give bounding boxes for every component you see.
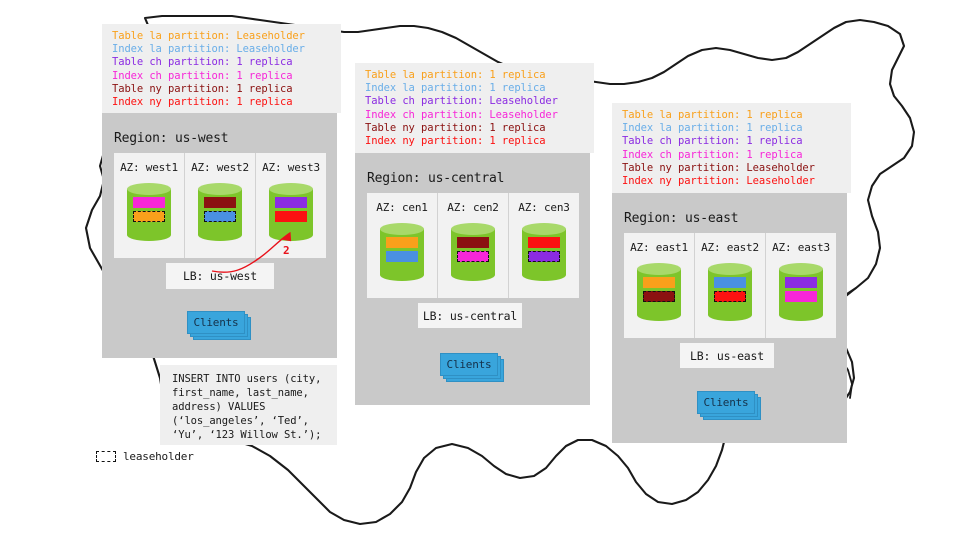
- info-line: Table ny partition: 1 replica: [365, 122, 586, 135]
- cylinder-top: [779, 263, 823, 275]
- clients-label: Clients: [447, 358, 492, 371]
- az-strip-us-central: AZ: cen1 AZ: cen2: [367, 193, 579, 298]
- replica-band: [714, 277, 746, 288]
- legend: leaseholder: [96, 450, 194, 463]
- cylinder-top: [637, 263, 681, 275]
- cylinder-top: [522, 223, 566, 235]
- az-label-west1: AZ: west1: [120, 161, 178, 174]
- replica-band: [643, 277, 675, 288]
- database-cylinder-cen3[interactable]: [522, 223, 566, 281]
- replica-band: [785, 291, 817, 302]
- replica-band: [386, 237, 418, 248]
- leaseholder-band: [714, 291, 746, 302]
- leaseholder-swatch-icon: [96, 451, 116, 462]
- cylinder-top: [380, 223, 424, 235]
- database-cylinder-west1[interactable]: [127, 183, 171, 241]
- database-cylinder-cen2[interactable]: [451, 223, 495, 281]
- info-line: Index ny partition: Leaseholder: [622, 175, 843, 188]
- info-line: Index la partition: 1 replica: [622, 122, 843, 135]
- info-line: Index ch partition: 1 replica: [112, 70, 333, 83]
- sql-statement-box: INSERT INTO users (city, first_name, las…: [160, 365, 337, 445]
- az-label-cen2: AZ: cen2: [447, 201, 498, 214]
- region-title-us-east: Region: us-east: [624, 211, 738, 226]
- az-label-west3: AZ: west3: [262, 161, 320, 174]
- clients-label: Clients: [704, 396, 749, 409]
- clients-stack-front[interactable]: Clients: [697, 391, 755, 414]
- clients-stack-front[interactable]: Clients: [187, 311, 245, 334]
- annotation-arrow: [210, 225, 310, 280]
- info-line: Table ch partition: 1 replica: [622, 135, 843, 148]
- info-box-us-west: Table la partition: Leaseholder Index la…: [102, 24, 341, 113]
- az-label-cen1: AZ: cen1: [376, 201, 427, 214]
- az-cell-cen1[interactable]: AZ: cen1: [367, 193, 438, 298]
- az-cell-west1[interactable]: AZ: west1: [114, 153, 185, 258]
- replica-band: [386, 251, 418, 262]
- region-panel-us-east: Region: us-east AZ: east1 AZ: east2: [612, 193, 847, 443]
- az-cell-cen3[interactable]: AZ: cen3: [509, 193, 579, 298]
- clients-stack-front[interactable]: Clients: [440, 353, 498, 376]
- az-label-east3: AZ: east3: [772, 241, 830, 254]
- info-box-us-central: Table la partition: 1 replica Index la p…: [355, 63, 594, 153]
- clients-label: Clients: [194, 316, 239, 329]
- info-line: Index ch partition: 1 replica: [622, 149, 843, 162]
- info-line: Index ch partition: Leaseholder: [365, 109, 586, 122]
- info-line: Index ny partition: 1 replica: [365, 135, 586, 148]
- az-cell-east3[interactable]: AZ: east3: [766, 233, 836, 338]
- replica-band: [275, 211, 307, 222]
- az-label-west2: AZ: west2: [191, 161, 249, 174]
- legend-label: leaseholder: [123, 450, 194, 463]
- info-line: Table ch partition: Leaseholder: [365, 95, 586, 108]
- region-title-us-west: Region: us-west: [114, 131, 228, 146]
- clients-button-us-east[interactable]: Clients: [697, 391, 759, 417]
- leaseholder-band: [643, 291, 675, 302]
- info-line: Index ny partition: 1 replica: [112, 96, 333, 109]
- region-panel-us-central: Region: us-central AZ: cen1 AZ: cen2: [355, 153, 590, 405]
- sql-line: INSERT INTO users (city,: [172, 372, 327, 386]
- info-box-us-east: Table la partition: 1 replica Index la p…: [612, 103, 851, 193]
- clients-button-us-west[interactable]: Clients: [187, 311, 249, 337]
- diagram-canvas: Region: us-west AZ: west1 AZ: west2: [0, 0, 960, 540]
- info-line: Index la partition: Leaseholder: [112, 43, 333, 56]
- info-line: Index la partition: 1 replica: [365, 82, 586, 95]
- clients-button-us-central[interactable]: Clients: [440, 353, 502, 379]
- cylinder-top: [708, 263, 752, 275]
- lb-label-us-central: LB: us-central: [423, 309, 517, 323]
- region-title-us-central: Region: us-central: [367, 171, 504, 186]
- info-line: Table la partition: 1 replica: [365, 69, 586, 82]
- az-cell-east1[interactable]: AZ: east1: [624, 233, 695, 338]
- leaseholder-band: [457, 251, 489, 262]
- az-strip-us-east: AZ: east1 AZ: east2: [624, 233, 836, 338]
- lb-label-us-east: LB: us-east: [690, 349, 764, 363]
- sql-line: first_name, last_name,: [172, 386, 327, 400]
- leaseholder-band: [528, 251, 560, 262]
- database-cylinder-east3[interactable]: [779, 263, 823, 321]
- sql-line: address) VALUES: [172, 400, 327, 414]
- az-label-cen3: AZ: cen3: [518, 201, 569, 214]
- database-cylinder-east1[interactable]: [637, 263, 681, 321]
- replica-band: [528, 237, 560, 248]
- sql-line: ‘Yu’, ‘123 Willow St.’);: [172, 428, 327, 442]
- info-line: Table ny partition: 1 replica: [112, 83, 333, 96]
- az-cell-cen2[interactable]: AZ: cen2: [438, 193, 509, 298]
- info-line: Table ny partition: Leaseholder: [622, 162, 843, 175]
- replica-band: [133, 197, 165, 208]
- replica-band: [204, 197, 236, 208]
- leaseholder-band: [133, 211, 165, 222]
- cylinder-top: [198, 183, 242, 195]
- leaseholder-band: [204, 211, 236, 222]
- info-line: Table ch partition: 1 replica: [112, 56, 333, 69]
- cylinder-top: [269, 183, 313, 195]
- az-cell-east2[interactable]: AZ: east2: [695, 233, 766, 338]
- cylinder-top: [127, 183, 171, 195]
- az-label-east2: AZ: east2: [701, 241, 759, 254]
- load-balancer-us-east[interactable]: LB: us-east: [680, 343, 774, 368]
- database-cylinder-cen1[interactable]: [380, 223, 424, 281]
- replica-band: [785, 277, 817, 288]
- info-line: Table la partition: Leaseholder: [112, 30, 333, 43]
- info-line: Table la partition: 1 replica: [622, 109, 843, 122]
- annotation-number: 2: [283, 244, 290, 257]
- replica-band: [457, 237, 489, 248]
- database-cylinder-east2[interactable]: [708, 263, 752, 321]
- load-balancer-us-central[interactable]: LB: us-central: [418, 303, 522, 328]
- az-label-east1: AZ: east1: [630, 241, 688, 254]
- sql-line: (‘los_angeles’, ‘Ted’,: [172, 414, 327, 428]
- replica-band: [275, 197, 307, 208]
- cylinder-top: [451, 223, 495, 235]
